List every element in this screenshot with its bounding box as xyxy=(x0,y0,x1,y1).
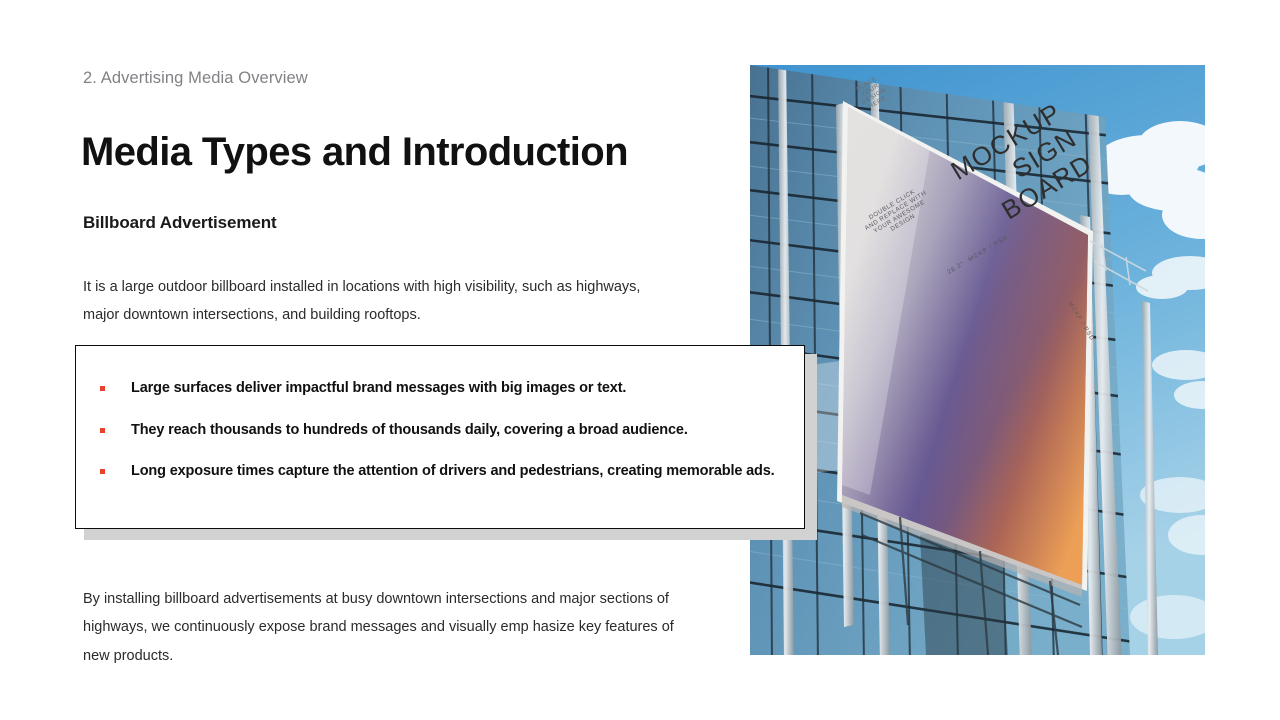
bullet-list: Large surfaces deliver impactful brand m… xyxy=(100,379,788,482)
subheading: Billboard Advertisement xyxy=(83,213,277,233)
square-bullet-icon xyxy=(100,428,105,433)
list-item-label: Long exposure times capture the attentio… xyxy=(131,462,775,482)
page-title: Media Types and Introduction xyxy=(81,130,628,175)
list-item: Long exposure times capture the attentio… xyxy=(100,462,788,482)
section-eyebrow: 2. Advertising Media Overview xyxy=(83,69,308,88)
slide-canvas: PLACE YOUR DESIGN HERE MOCKUP SIGN BOARD… xyxy=(0,0,1280,720)
list-item-label: Large surfaces deliver impactful brand m… xyxy=(131,379,626,399)
square-bullet-icon xyxy=(100,469,105,474)
lead-paragraph: It is a large outdoor billboard installe… xyxy=(83,273,663,329)
list-item: They reach thousands to hundreds of thou… xyxy=(100,421,788,441)
square-bullet-icon xyxy=(100,386,105,391)
closing-paragraph: By installing billboard advertisements a… xyxy=(83,585,683,671)
callout-box: Large surfaces deliver impactful brand m… xyxy=(75,345,805,529)
list-item: Large surfaces deliver impactful brand m… xyxy=(100,379,788,399)
list-item-label: They reach thousands to hundreds of thou… xyxy=(131,421,688,441)
billboard-photo: PLACE YOUR DESIGN HERE MOCKUP SIGN BOARD… xyxy=(750,65,1205,655)
